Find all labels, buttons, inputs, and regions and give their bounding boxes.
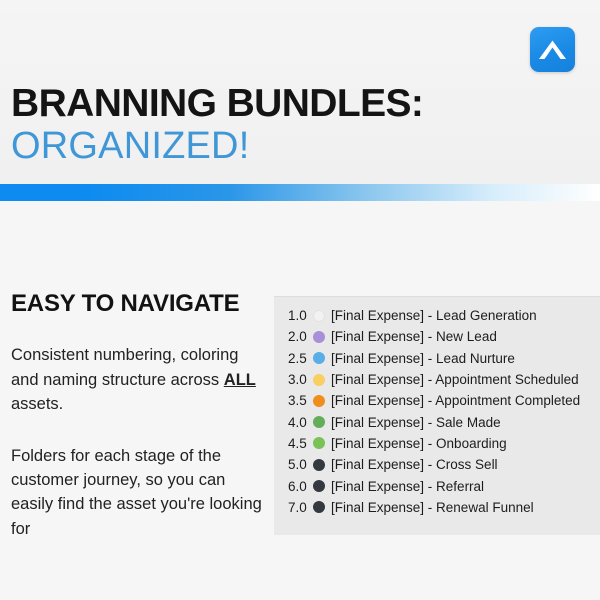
folder-item-number: 4.0	[288, 415, 313, 430]
folder-list-item[interactable]: 2.5[Final Expense] - Lead Nurture	[288, 348, 600, 369]
header-banner: BRANNING BUNDLES: ORGANIZED!	[0, 0, 600, 184]
folder-item-label: [Final Expense] - Referral	[331, 479, 484, 494]
folder-item-label: [Final Expense] - Cross Sell	[331, 457, 498, 472]
folder-item-label: [Final Expense] - Renewal Funnel	[331, 500, 534, 515]
folder-color-dot-icon	[313, 437, 325, 449]
folder-color-dot-icon	[313, 501, 325, 513]
folder-list-item[interactable]: 6.0[Final Expense] - Referral	[288, 475, 600, 496]
folder-item-label: [Final Expense] - Sale Made	[331, 415, 501, 430]
brand-logo[interactable]	[530, 27, 575, 72]
folder-item-label: [Final Expense] - Lead Generation	[331, 308, 537, 323]
folder-item-number: 5.0	[288, 457, 313, 472]
folder-color-dot-icon	[313, 416, 325, 428]
folder-item-label: [Final Expense] - Appointment Completed	[331, 393, 580, 408]
folder-item-number: 3.5	[288, 393, 313, 408]
folder-color-dot-icon	[313, 331, 325, 343]
folder-item-label: [Final Expense] - Lead Nurture	[331, 351, 515, 366]
folder-color-dot-icon	[313, 310, 325, 322]
chevron-up-logo-icon	[530, 27, 575, 72]
headline-primary: BRANNING BUNDLES:	[11, 84, 571, 124]
folder-list-item[interactable]: 3.5[Final Expense] - Appointment Complet…	[288, 390, 600, 411]
folder-list-item[interactable]: 4.5[Final Expense] - Onboarding	[288, 433, 600, 454]
paragraph-1-emphasis: ALL	[224, 371, 256, 389]
folder-list-item[interactable]: 1.0[Final Expense] - Lead Generation	[288, 305, 600, 326]
body-paragraph-1: Consistent numbering, coloring and namin…	[11, 343, 263, 416]
folder-list-item[interactable]: 2.0[Final Expense] - New Lead	[288, 326, 600, 347]
folder-item-label: [Final Expense] - Appointment Scheduled	[331, 372, 579, 387]
folder-color-dot-icon	[313, 459, 325, 471]
paragraph-1-text-after: assets.	[11, 395, 63, 413]
content-area: EASY TO NAVIGATE Consistent numbering, c…	[0, 201, 600, 600]
paragraph-1-text-before: Consistent numbering, coloring and namin…	[11, 346, 238, 388]
folder-item-number: 7.0	[288, 500, 313, 515]
section-heading: EASY TO NAVIGATE	[11, 291, 263, 317]
accent-gradient-bar	[0, 184, 600, 201]
folder-item-number: 4.5	[288, 436, 313, 451]
headline-block: BRANNING BUNDLES: ORGANIZED!	[11, 84, 571, 167]
folder-item-number: 2.5	[288, 351, 313, 366]
folder-list-item[interactable]: 3.0[Final Expense] - Appointment Schedul…	[288, 369, 600, 390]
folder-structure-panel: 1.0[Final Expense] - Lead Generation2.0[…	[274, 296, 600, 535]
body-paragraph-2: Folders for each stage of the customer j…	[11, 444, 263, 542]
folder-list-item[interactable]: 4.0[Final Expense] - Sale Made	[288, 411, 600, 432]
folder-item-number: 1.0	[288, 308, 313, 323]
folder-color-dot-icon	[313, 352, 325, 364]
folder-list: 1.0[Final Expense] - Lead Generation2.0[…	[274, 296, 600, 527]
headline-secondary: ORGANIZED!	[11, 127, 571, 167]
folder-color-dot-icon	[313, 395, 325, 407]
folder-item-number: 6.0	[288, 479, 313, 494]
folder-color-dot-icon	[313, 374, 325, 386]
folder-color-dot-icon	[313, 480, 325, 492]
folder-list-item[interactable]: 5.0[Final Expense] - Cross Sell	[288, 454, 600, 475]
folder-item-label: [Final Expense] - Onboarding	[331, 436, 507, 451]
folder-item-number: 2.0	[288, 329, 313, 344]
left-text-column: EASY TO NAVIGATE Consistent numbering, c…	[11, 291, 263, 541]
folder-list-item[interactable]: 7.0[Final Expense] - Renewal Funnel	[288, 497, 600, 518]
folder-item-label: [Final Expense] - New Lead	[331, 329, 497, 344]
folder-item-number: 3.0	[288, 372, 313, 387]
